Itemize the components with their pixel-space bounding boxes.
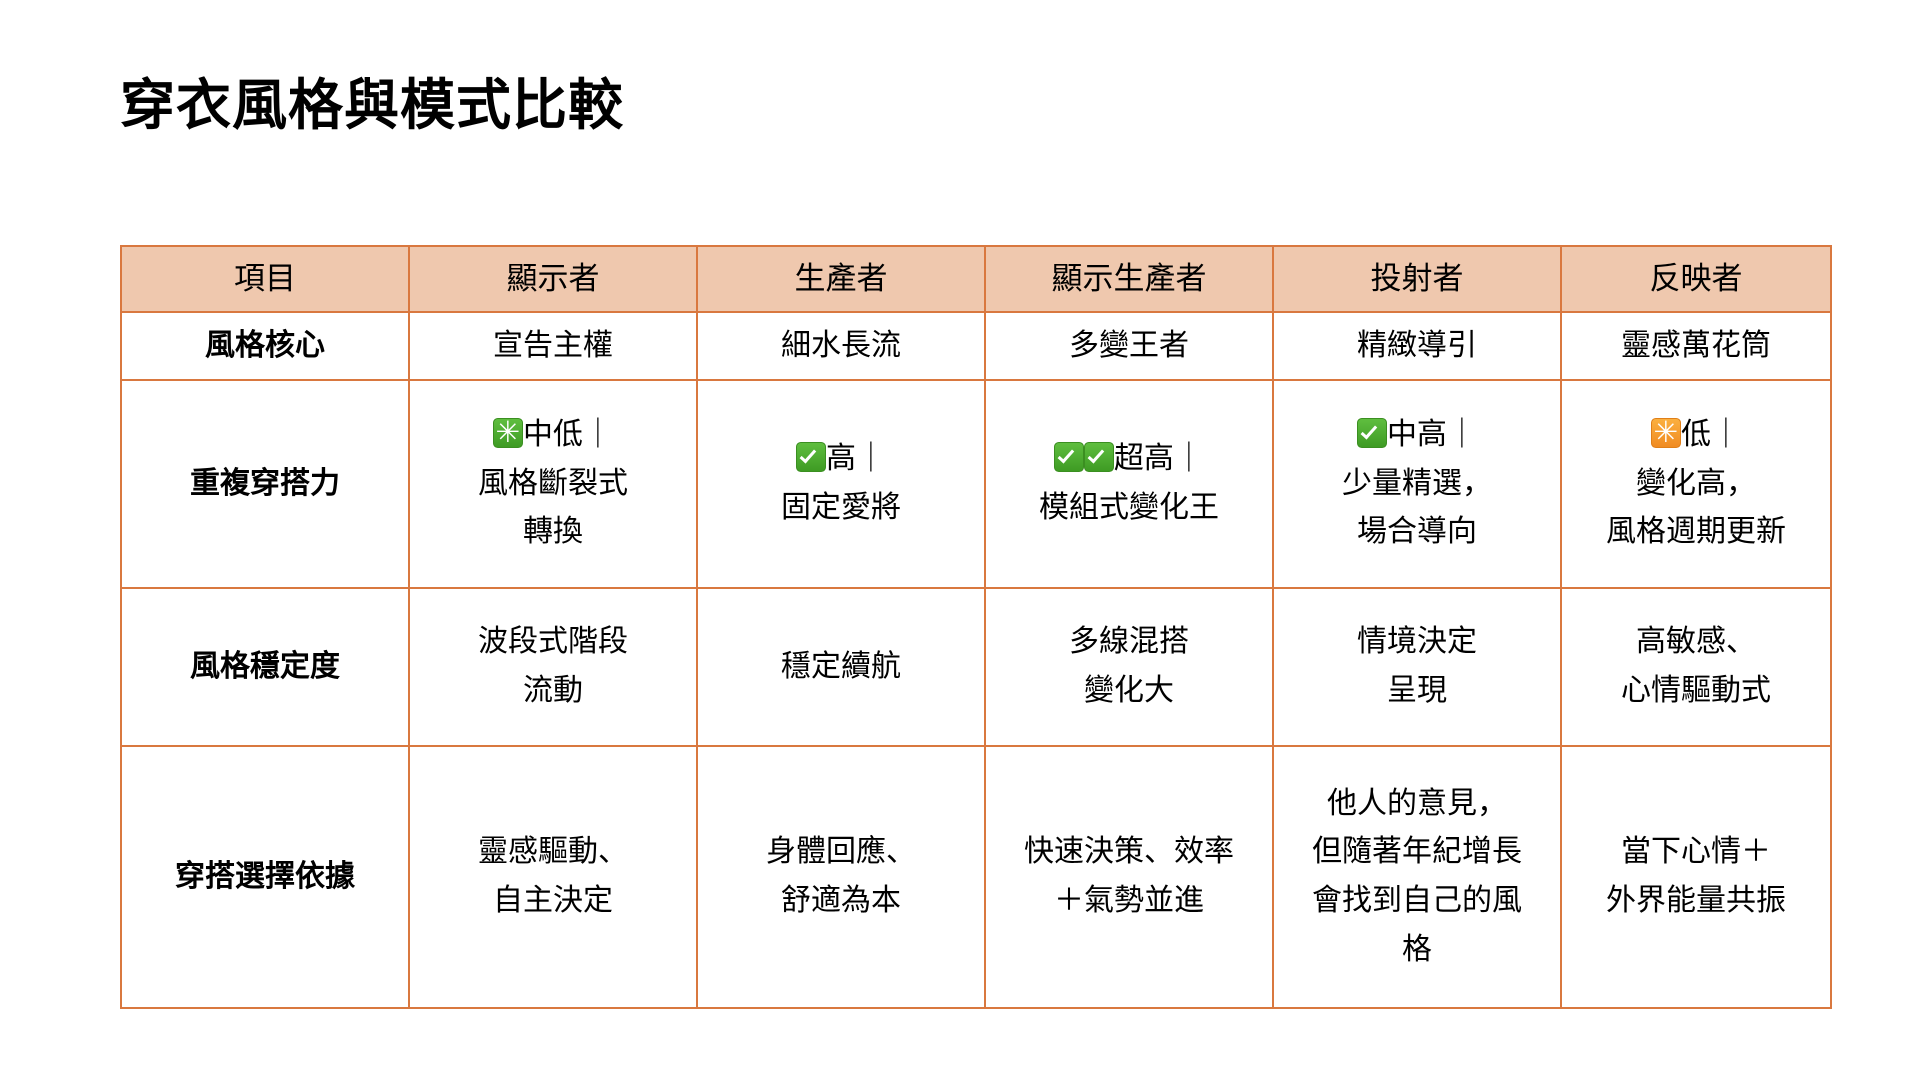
cell-line: 身體回應、	[706, 828, 976, 877]
cell-line: 心情驅動式	[1570, 667, 1822, 716]
table-header-row: 項目 顯示者 生產者 顯示生產者 投射者 反映者	[121, 246, 1831, 312]
table-body: 風格核心 宣告主權 細水長流 多變王者	[121, 312, 1831, 1008]
column-header-item: 項目	[121, 246, 409, 312]
cell-line: 格	[1282, 926, 1552, 975]
cell-line: 變化高，	[1570, 460, 1822, 509]
cell-line: 場合導向	[1282, 508, 1552, 557]
table-cell: 精緻導引	[1273, 312, 1561, 380]
cell-line: 模組式變化王	[994, 484, 1264, 533]
table-cell: 快速決策、效率 ＋氣勢並進	[985, 746, 1273, 1008]
cell-line: 靈感驅動、	[418, 828, 688, 877]
cell-line: 舒適為本	[706, 877, 976, 926]
table-row: 穿搭選擇依據 靈感驅動、 自主決定 身體回應、 舒適為本	[121, 746, 1831, 1008]
cell-line: 少量精選，	[1282, 460, 1552, 509]
table-cell: 宣告主權	[409, 312, 697, 380]
cell-line-text: 低｜	[1681, 418, 1741, 451]
table-cell: 他人的意見， 但隨著年紀增長 會找到自己的風 格	[1273, 746, 1561, 1008]
table-cell: 當下心情＋ 外界能量共振	[1561, 746, 1831, 1008]
cell-line: 波段式階段	[418, 618, 688, 667]
orange-asterisk-icon: ✳	[1651, 418, 1681, 448]
table-cell: 穩定續航	[697, 588, 985, 746]
table-cell: 高｜ 固定愛將	[697, 380, 985, 588]
table-row: 風格核心 宣告主權 細水長流 多變王者	[121, 312, 1831, 380]
cell-line: ＋氣勢並進	[994, 877, 1264, 926]
cell-line: 固定愛將	[706, 484, 976, 533]
column-header-manifesting-generator: 顯示生產者	[985, 246, 1273, 312]
cell-line: ✳低｜	[1570, 411, 1822, 460]
cell-line: 高｜	[706, 435, 976, 484]
check-mark-button-icon	[1357, 418, 1387, 448]
cell-lines: 精緻導引	[1282, 322, 1552, 371]
cell-line: 情境決定	[1282, 618, 1552, 667]
cell-line: 流動	[418, 667, 688, 716]
table-cell: 身體回應、 舒適為本	[697, 746, 985, 1008]
cell-line: 精緻導引	[1282, 322, 1552, 371]
cell-lines: 靈感驅動、 自主決定	[418, 828, 688, 925]
row-header-style-core: 風格核心	[121, 312, 409, 380]
column-header-projector: 投射者	[1273, 246, 1561, 312]
cell-line: 但隨著年紀增長	[1282, 828, 1552, 877]
table-row: 風格穩定度 波段式階段 流動 穩定續航 多線混搭	[121, 588, 1831, 746]
slide-root: 穿衣風格與模式比較 項目 顯示者 生產者 顯示生產者 投射者 反映者 風格核心	[0, 0, 1920, 1080]
cell-line: 高敏感、	[1570, 618, 1822, 667]
cell-line-text: 超高｜	[1114, 442, 1204, 475]
check-mark-button-icon	[1054, 442, 1084, 472]
table-cell: 靈感驅動、 自主決定	[409, 746, 697, 1008]
table-cell: 超高｜ 模組式變化王	[985, 380, 1273, 588]
cell-lines: 超高｜ 模組式變化王	[994, 435, 1264, 532]
cell-line: 風格斷裂式	[418, 460, 688, 509]
cell-line: 變化大	[994, 667, 1264, 716]
cell-line: 細水長流	[706, 322, 976, 371]
cell-lines: 多線混搭 變化大	[994, 618, 1264, 715]
row-header-repeat-wearability: 重複穿搭力	[121, 380, 409, 588]
cell-lines: 中高｜ 少量精選， 場合導向	[1282, 411, 1552, 557]
cell-line: 中高｜	[1282, 411, 1552, 460]
check-mark-button-icon	[796, 442, 826, 472]
cell-line: 當下心情＋	[1570, 828, 1822, 877]
cell-line-text: 高｜	[826, 442, 886, 475]
table-cell: 多變王者	[985, 312, 1273, 380]
cell-line: 會找到自己的風	[1282, 877, 1552, 926]
column-header-generator: 生產者	[697, 246, 985, 312]
cell-line: 他人的意見，	[1282, 780, 1552, 829]
cell-lines: 靈感萬花筒	[1570, 322, 1822, 371]
cell-line-text: 中高｜	[1387, 418, 1477, 451]
cell-line: ✳中低｜	[418, 411, 688, 460]
table-cell: 波段式階段 流動	[409, 588, 697, 746]
cell-lines: 波段式階段 流動	[418, 618, 688, 715]
cell-line: 超高｜	[994, 435, 1264, 484]
cell-lines: 多變王者	[994, 322, 1264, 371]
table-cell: 情境決定 呈現	[1273, 588, 1561, 746]
table-cell: 靈感萬花筒	[1561, 312, 1831, 380]
row-header-outfit-decision-basis: 穿搭選擇依據	[121, 746, 409, 1008]
cell-lines: 高｜ 固定愛將	[706, 435, 976, 532]
cell-line: 風格週期更新	[1570, 508, 1822, 557]
cell-lines: 快速決策、效率 ＋氣勢並進	[994, 828, 1264, 925]
cell-line: 靈感萬花筒	[1570, 322, 1822, 371]
cell-line: 多變王者	[994, 322, 1264, 371]
page-title: 穿衣風格與模式比較	[120, 72, 624, 138]
cell-lines: ✳中低｜ 風格斷裂式 轉換	[418, 411, 688, 557]
cell-line: 穩定續航	[706, 643, 976, 692]
cell-lines: 高敏感、 心情驅動式	[1570, 618, 1822, 715]
cell-line: 轉換	[418, 508, 688, 557]
table-cell: ✳中低｜ 風格斷裂式 轉換	[409, 380, 697, 588]
cell-lines: 穩定續航	[706, 643, 976, 692]
cell-lines: 宣告主權	[418, 322, 688, 371]
cell-line: 呈現	[1282, 667, 1552, 716]
cell-lines: 身體回應、 舒適為本	[706, 828, 976, 925]
comparison-table-container: 項目 顯示者 生產者 顯示生產者 投射者 反映者 風格核心 宣告主權	[120, 245, 1830, 1009]
cell-line: 自主決定	[418, 877, 688, 926]
table-cell: 中高｜ 少量精選， 場合導向	[1273, 380, 1561, 588]
table-header: 項目 顯示者 生產者 顯示生產者 投射者 反映者	[121, 246, 1831, 312]
green-asterisk-icon: ✳	[493, 418, 523, 448]
table-cell: 多線混搭 變化大	[985, 588, 1273, 746]
cell-lines: ✳低｜ 變化高， 風格週期更新	[1570, 411, 1822, 557]
cell-line-text: 中低｜	[523, 418, 613, 451]
table-cell: ✳低｜ 變化高， 風格週期更新	[1561, 380, 1831, 588]
cell-line: 快速決策、效率	[994, 828, 1264, 877]
table-cell: 細水長流	[697, 312, 985, 380]
table-cell: 高敏感、 心情驅動式	[1561, 588, 1831, 746]
row-header-style-stability: 風格穩定度	[121, 588, 409, 746]
cell-lines: 當下心情＋ 外界能量共振	[1570, 828, 1822, 925]
table-row: 重複穿搭力 ✳中低｜ 風格斷裂式 轉換 高｜ 固定愛將	[121, 380, 1831, 588]
cell-lines: 情境決定 呈現	[1282, 618, 1552, 715]
check-mark-button-icon	[1084, 442, 1114, 472]
cell-line: 宣告主權	[418, 322, 688, 371]
cell-line: 多線混搭	[994, 618, 1264, 667]
comparison-table: 項目 顯示者 生產者 顯示生產者 投射者 反映者 風格核心 宣告主權	[120, 245, 1832, 1009]
column-header-manifestor: 顯示者	[409, 246, 697, 312]
cell-line: 外界能量共振	[1570, 877, 1822, 926]
cell-lines: 細水長流	[706, 322, 976, 371]
column-header-reflector: 反映者	[1561, 246, 1831, 312]
cell-lines: 他人的意見， 但隨著年紀增長 會找到自己的風 格	[1282, 780, 1552, 974]
